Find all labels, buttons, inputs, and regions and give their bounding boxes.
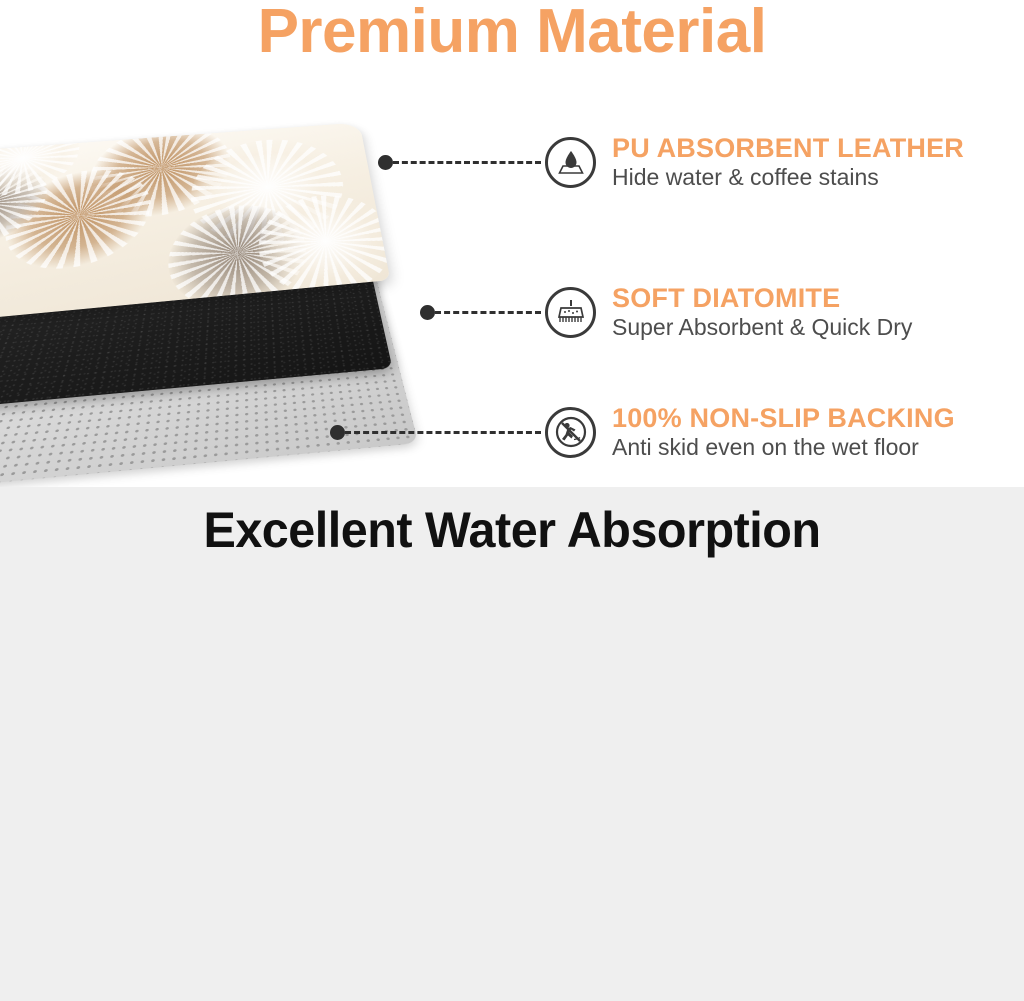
scrub-brush-icon bbox=[545, 287, 596, 338]
connector-line bbox=[435, 311, 541, 314]
callout-text-group: SOFT DIATOMITE Super Absorbent & Quick D… bbox=[612, 284, 912, 341]
callout-subtitle: Super Absorbent & Quick Dry bbox=[612, 314, 912, 340]
callout-pu-absorbent-leather: PU ABSORBENT LEATHER Hide water & coffee… bbox=[378, 134, 964, 191]
callout-text-group: 100% NON-SLIP BACKING Anti skid even on … bbox=[612, 404, 955, 461]
infographic-page: Premium Material bbox=[0, 0, 1024, 1001]
connector-dot bbox=[378, 155, 393, 170]
callout-subtitle: Anti skid even on the wet floor bbox=[612, 434, 955, 460]
water-drop-on-surface-icon bbox=[545, 137, 596, 188]
connector-dot bbox=[330, 425, 345, 440]
connector-line bbox=[393, 161, 541, 164]
premium-material-section: Premium Material bbox=[0, 0, 1024, 487]
connector-dot bbox=[420, 305, 435, 320]
callout-subtitle: Hide water & coffee stains bbox=[612, 164, 964, 190]
section-title: Excellent Water Absorption bbox=[15, 501, 1008, 559]
callout-title: PU ABSORBENT LEATHER bbox=[612, 134, 964, 162]
callout-soft-diatomite: SOFT DIATOMITE Super Absorbent & Quick D… bbox=[420, 284, 912, 341]
callout-text-group: PU ABSORBENT LEATHER Hide water & coffee… bbox=[612, 134, 964, 191]
callout-non-slip-backing: 100% NON-SLIP BACKING Anti skid even on … bbox=[330, 404, 955, 461]
water-absorption-section: Excellent Water Absorption Water Coffee bbox=[0, 487, 1024, 1001]
no-slipping-icon bbox=[545, 407, 596, 458]
callout-title: SOFT DIATOMITE bbox=[612, 284, 912, 312]
callout-title: 100% NON-SLIP BACKING bbox=[612, 404, 955, 432]
connector-line bbox=[345, 431, 541, 434]
page-title: Premium Material bbox=[0, 0, 1024, 67]
